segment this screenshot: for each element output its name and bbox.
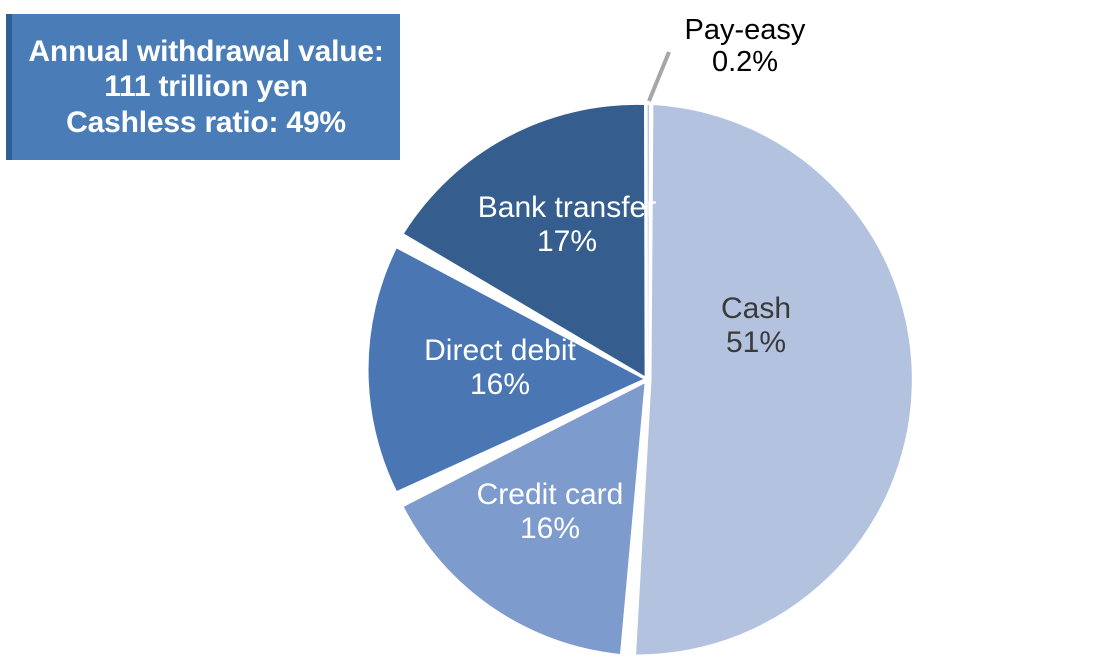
pie-slice-cash[interactable] — [636, 105, 912, 655]
pie-slices — [369, 105, 912, 655]
pie-slice-pay-easy[interactable] — [648, 105, 649, 380]
slice-label-pay-easy-name: Pay-easy — [640, 14, 850, 46]
slice-label-pay-easy: Pay-easy 0.2% — [640, 14, 850, 79]
pie-graphic — [0, 0, 1120, 668]
slice-label-pay-easy-value: 0.2% — [640, 46, 850, 78]
pie-chart-figure: Annual withdrawal value: 111 trillion ye… — [0, 0, 1120, 668]
